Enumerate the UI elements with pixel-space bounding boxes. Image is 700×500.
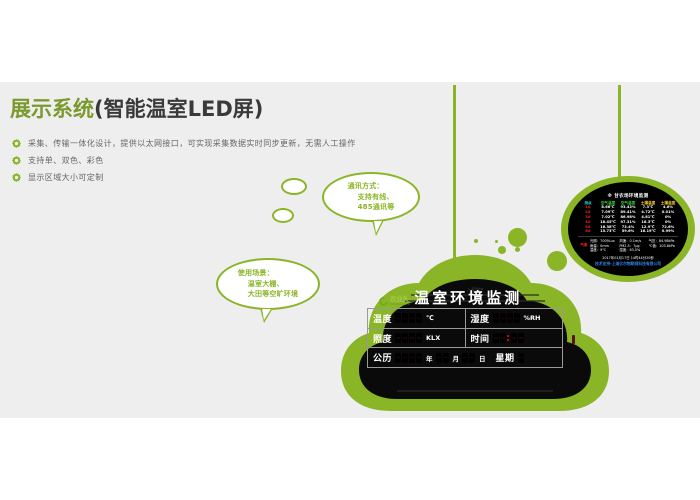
- list-item-label: 支持单、双色、彩色: [28, 155, 104, 166]
- led-header: 农业头 Pdsaasgrich 温室环境监测: [379, 291, 522, 306]
- mini-display-screen: ※ 甘农场环境监测 测点 空气温度 空气湿度 土壤温度 土壤湿度 1# 8.66…: [568, 182, 688, 276]
- speech-bubble-scene-text: 使用场景： 温室大棚、 大田等空旷环境: [238, 268, 298, 300]
- readout-humidity: 湿度 %RH: [466, 309, 563, 328]
- seven-segment-digits: [395, 313, 423, 323]
- seven-segment-digits: [395, 333, 423, 343]
- page-title-green: 展示系统: [10, 97, 94, 121]
- list-item: 支持单、双色、彩色: [12, 153, 356, 168]
- readout-label: 公历: [373, 351, 392, 364]
- bubble-line-2: 支持有线、: [348, 192, 395, 203]
- readout-time: 时间: [466, 329, 563, 348]
- readout-label: 照度: [373, 332, 392, 345]
- bubble-line-2: 温室大棚、: [238, 279, 298, 290]
- table-row: 6# 15.73℃ 59.6% 16.19℃ 0.99%: [578, 230, 678, 235]
- summary-row: 温度：9℃ 湿度：63.5%: [590, 248, 678, 253]
- speech-bubble-tail: [372, 220, 384, 236]
- list-item: 采集、传输一体化设计，提供以太网接口，可实现采集数据实时同步更新，无需人工操作: [12, 136, 356, 151]
- led-screen-content: 农业头 Pdsaasgrich 温室环境监测 温度 ℃: [361, 280, 569, 375]
- gear-icon: [12, 139, 21, 148]
- readout-label: 时间: [471, 332, 490, 345]
- led-readout-grid: 温度 ℃ 湿度 %RH: [367, 308, 563, 368]
- readout-temperature: 温度 ℃: [368, 309, 466, 328]
- gear-icon: [12, 173, 21, 182]
- summary-cell: 温度：9℃: [590, 248, 619, 253]
- seven-segment-day: [462, 353, 476, 363]
- list-item: 显示区域大小可定制: [12, 170, 356, 185]
- mini-display-company: 技术支持-上海亿尔物联网科技有限公司: [578, 261, 678, 267]
- seven-segment-month: [436, 353, 450, 363]
- readout-unit: KLX: [426, 334, 440, 342]
- mini-display-datetime: 2017年01月17日 14时44分20秒: [578, 255, 678, 260]
- cell-value: 16.19℃: [638, 230, 658, 235]
- bubble-line-3: 485通讯等: [348, 202, 395, 213]
- gear-icon: [12, 156, 21, 165]
- seven-segment-year: [395, 353, 423, 363]
- weather-summary: 气象 光照：7009Lux 风速：0.1m/s 气压：84.98kPa 雨量：0…: [578, 236, 678, 252]
- readout-date: 公历 年 月 日 星期: [368, 348, 562, 367]
- readout-unit: ℃: [426, 314, 434, 322]
- feature-list: 采集、传输一体化设计，提供以太网接口，可实现采集数据实时同步更新，无需人工操作 …: [12, 136, 356, 187]
- speech-bubble-tail: [260, 308, 273, 323]
- readout-illuminance: 照度 KLX: [368, 329, 466, 348]
- readout-row-date: 公历 年 月 日 星期: [368, 348, 562, 367]
- cell-value: 15.73℃: [598, 230, 618, 235]
- summary-cell: 湿度：63.5%: [619, 248, 648, 253]
- thought-blob: [272, 208, 294, 223]
- speech-bubble-scene: 使用场景： 温室大棚、 大田等空旷环境: [216, 258, 320, 310]
- readout-row: 温度 ℃ 湿度 %RH: [368, 309, 562, 329]
- mini-round-display[interactable]: ※ 甘农场环境监测 测点 空气温度 空气湿度 土壤温度 土壤湿度 1# 8.66…: [561, 176, 695, 282]
- logo-text-en: Pdsaasgrich: [390, 303, 410, 306]
- summary-cell: [649, 248, 678, 253]
- readout-unit-day: 日: [479, 353, 486, 363]
- seven-segment-digits: [493, 333, 525, 343]
- logo-mark-icon: [377, 295, 390, 308]
- readout-unit-month: 月: [453, 353, 460, 363]
- bubble-line-3: 大田等空旷环境: [238, 289, 298, 300]
- colon-separator: [507, 333, 510, 343]
- seven-segment-digits: [493, 313, 521, 323]
- readout-label-week: 星期: [496, 351, 515, 364]
- readout-label: 温度: [373, 312, 392, 325]
- cell-value: 59.6%: [618, 230, 638, 235]
- readout-row: 照度 KLX 时间: [368, 329, 562, 349]
- slide-canvas: 展示系统(智能温室LED屏) 采集、传输一体化设计，提供以太网接口，可实现采集数…: [0, 0, 700, 500]
- page-title-dark: (智能温室LED屏): [94, 97, 263, 121]
- cell-value: 0.99%: [658, 230, 678, 235]
- list-item-label: 采集、传输一体化设计，提供以太网接口，可实现采集数据实时同步更新，无需人工操作: [28, 138, 356, 149]
- sensor-table: 测点 空气温度 空气湿度 土壤温度 土壤湿度 1# 8.66℃ 93.43% 7…: [578, 201, 678, 234]
- list-item-label: 显示区域大小可定制: [28, 172, 104, 183]
- row-point: 6#: [578, 230, 598, 235]
- seven-segment-weekday: [518, 353, 525, 363]
- mini-display-title: ※ 甘农场环境监测: [578, 193, 678, 199]
- led-board-title: 温室环境监测: [414, 291, 522, 306]
- page-title: 展示系统(智能温室LED屏): [10, 93, 263, 123]
- readout-unit-year: 年: [426, 353, 433, 363]
- brand-logo: 农业头 Pdsaasgrich: [379, 296, 410, 306]
- weather-summary-label: 气象: [578, 239, 590, 253]
- readout-unit: %RH: [524, 314, 541, 322]
- readout-label: 湿度: [471, 312, 490, 325]
- bubble-line-1: 使用场景：: [238, 269, 274, 277]
